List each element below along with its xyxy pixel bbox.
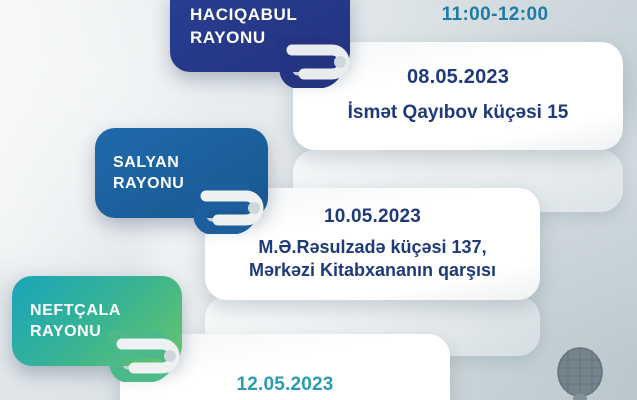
event-address-line1: İsmət Qayıbov küçəsi 15 xyxy=(293,101,623,125)
district-label-line1: NEFTÇALA xyxy=(30,300,182,321)
district-label-line2: RAYONU xyxy=(30,321,182,342)
district-label-line2: RAYONU xyxy=(190,27,350,50)
event-date: 12.05.2023 xyxy=(120,374,450,396)
district-label-line1: SALYAN xyxy=(113,152,268,173)
time-label: 11:00-12:00 xyxy=(380,4,610,26)
event-address-line1: M.Ə.Rəsulzadə küçəsi 137, xyxy=(205,236,540,259)
district-label-neftcala[interactable]: NEFTÇALA RAYONU xyxy=(12,276,182,366)
event-address-line2: Mərkəzi Kitabxananın qarşısı xyxy=(205,259,540,282)
poster-canvas: 11:00-12:00 HACIQABUL RAYONU 08.05.2023 … xyxy=(0,0,637,400)
district-label-line1: HACIQABUL xyxy=(190,4,350,27)
event-date: 08.05.2023 xyxy=(293,66,623,89)
district-label-salyan[interactable]: SALYAN RAYONU xyxy=(95,128,268,218)
district-label-line2: RAYONU xyxy=(113,173,268,194)
district-label-haciqabul[interactable]: HACIQABUL RAYONU xyxy=(170,0,350,72)
microphone-icon xyxy=(551,342,609,400)
